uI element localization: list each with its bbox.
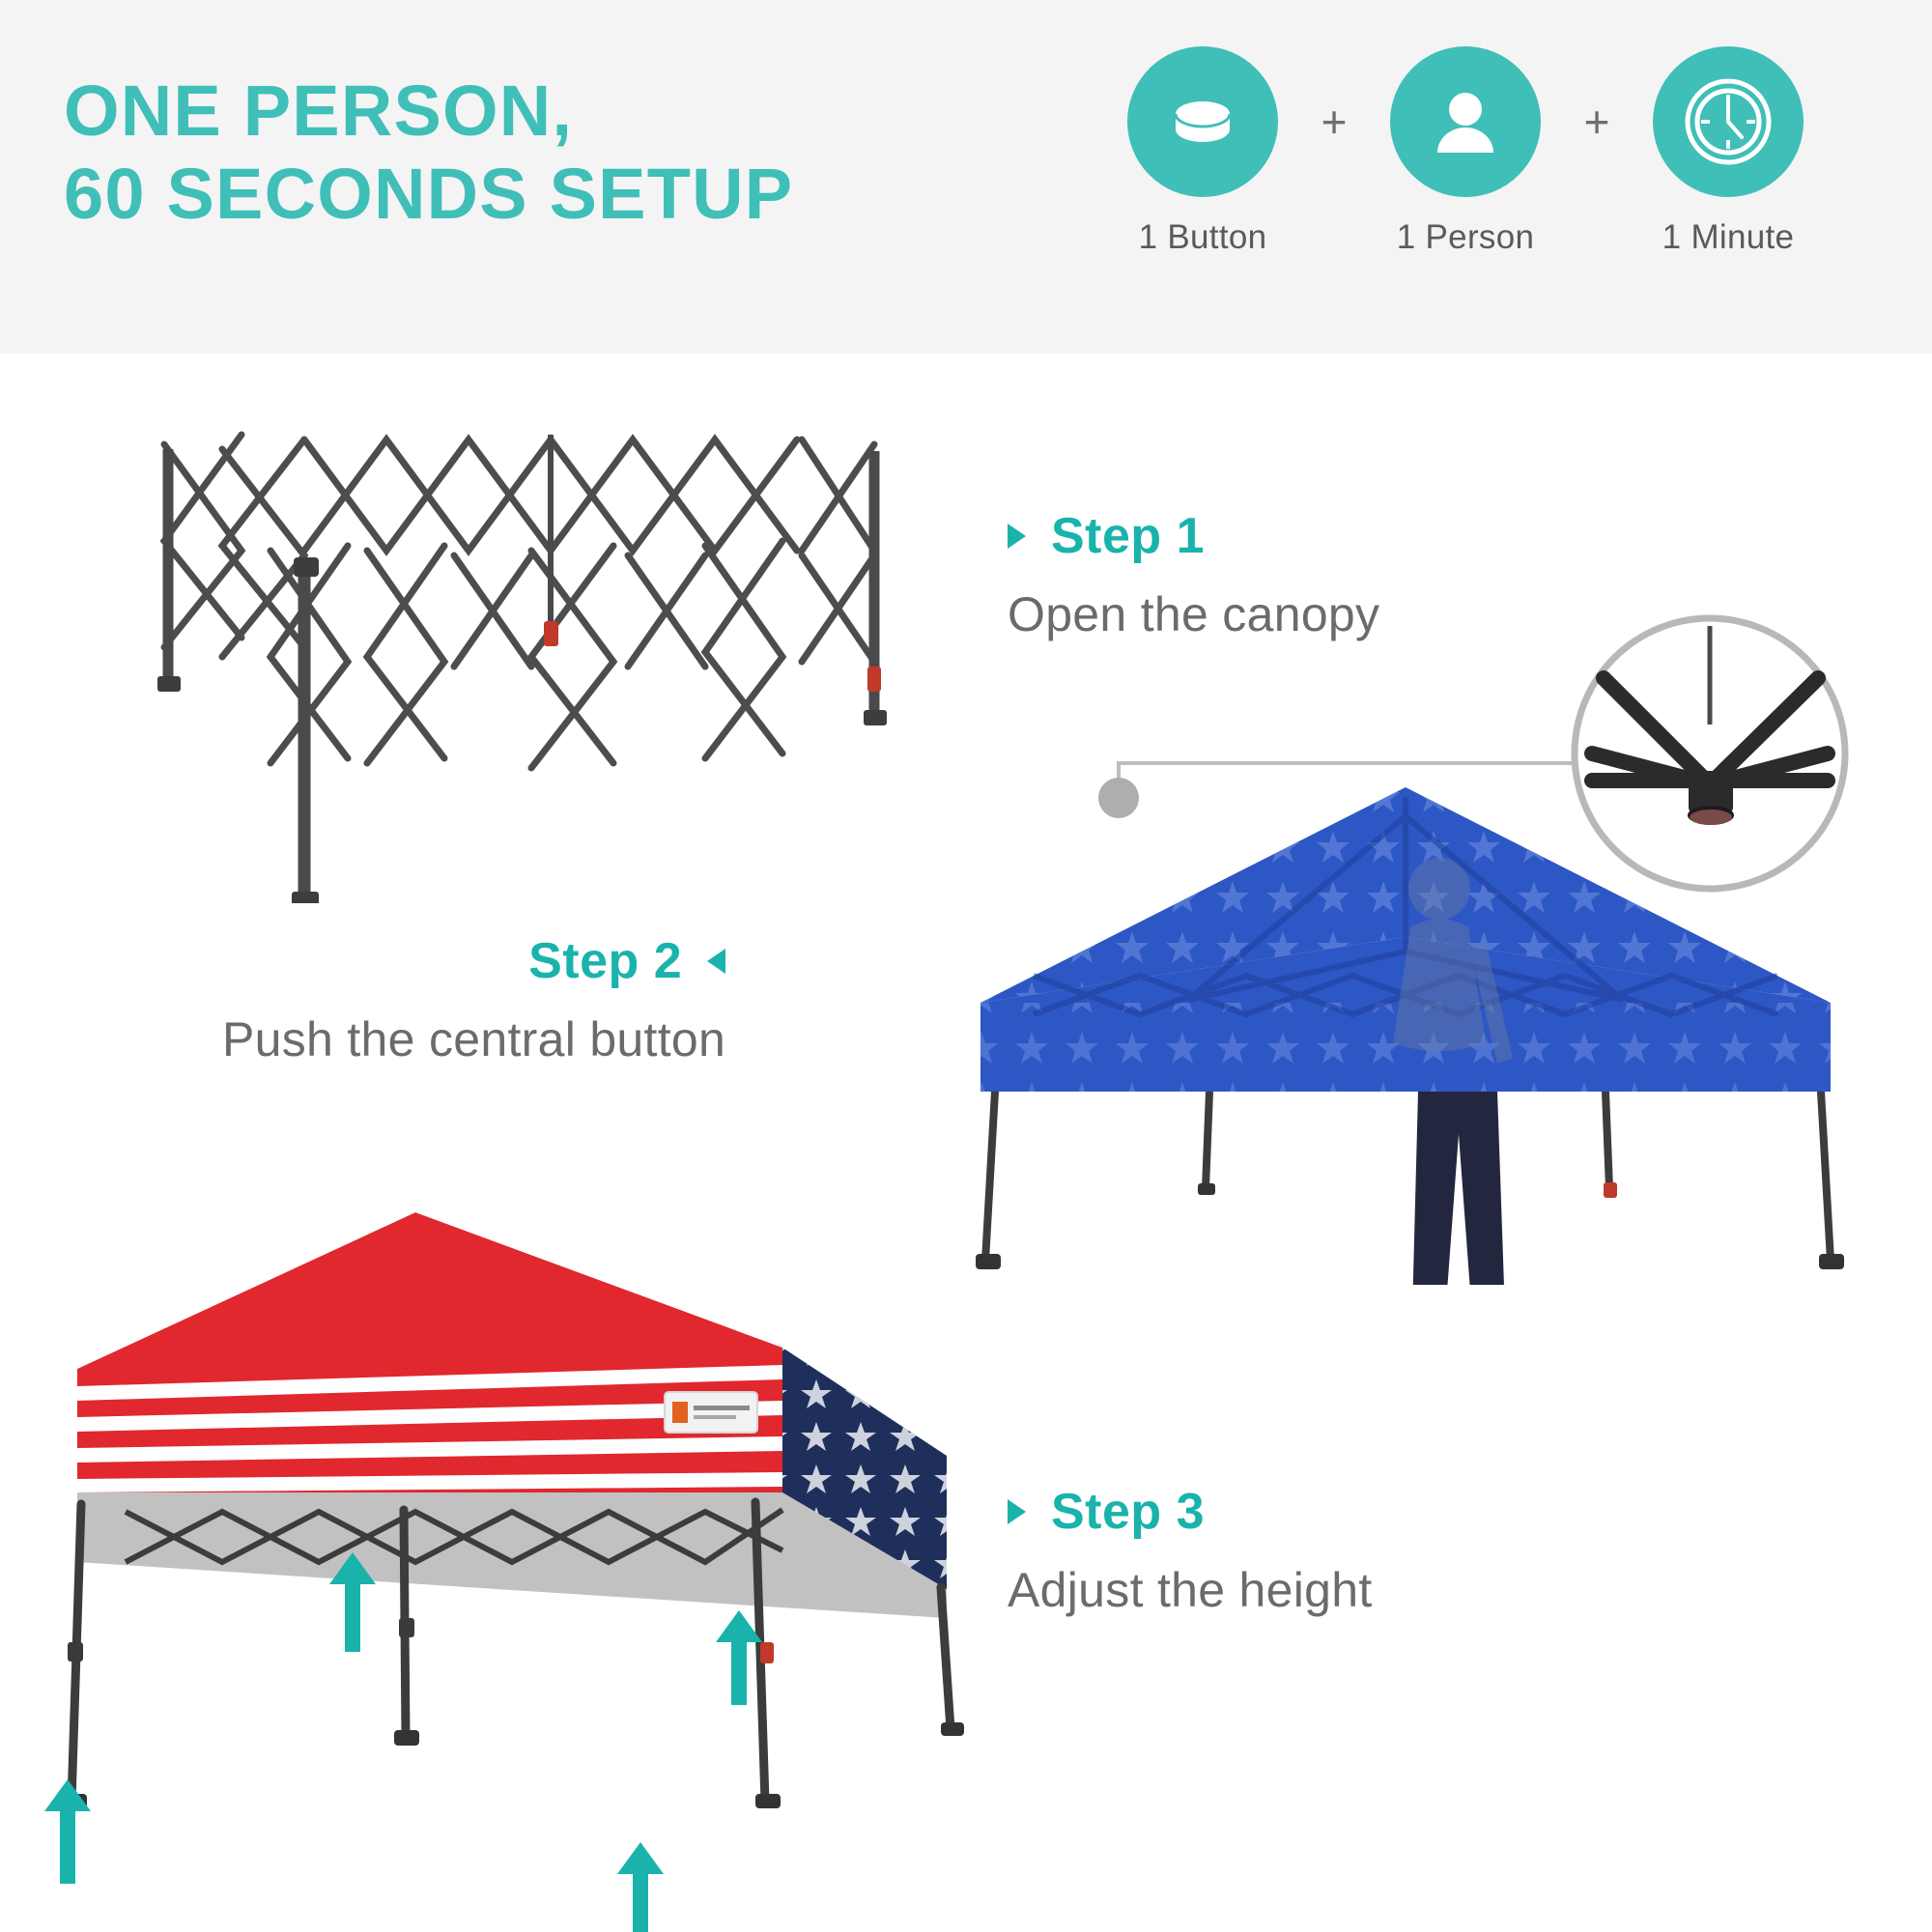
step-3-description: Adjust the height <box>1008 1562 1373 1618</box>
button-icon-badge <box>1127 46 1278 197</box>
height-adjust-arrows <box>0 1497 966 1932</box>
up-arrow-icon <box>44 1552 762 1932</box>
step-1-title: Step 1 <box>1051 507 1205 565</box>
triangle-right-icon <box>1008 1499 1026 1524</box>
plus-separator-1: + <box>1304 46 1364 197</box>
person-icon <box>1421 77 1510 166</box>
feature-1-button: 1 Button <box>1101 46 1304 257</box>
step-2-title: Step 2 <box>528 932 682 990</box>
clock-icon-badge <box>1653 46 1804 197</box>
step-2-description: Push the central button <box>222 1011 725 1067</box>
page-title: ONE PERSON, 60 SECONDS SETUP <box>64 70 793 236</box>
leg-release-tab <box>867 667 881 692</box>
brand-label <box>665 1392 757 1433</box>
collapsed-canopy-frame <box>126 382 918 903</box>
step-3-block: Step 3 Adjust the height <box>1008 1483 1373 1618</box>
feature-label: 1 Button <box>1139 218 1267 257</box>
person-lower-body <box>1406 1092 1512 1285</box>
feature-label: 1 Minute <box>1662 218 1795 257</box>
triangle-right-icon <box>1008 524 1026 549</box>
person-icon-badge <box>1390 46 1541 197</box>
callout-target-dot <box>1098 778 1139 818</box>
step-2-block: Step 2 Push the central button <box>222 932 725 1067</box>
feature-icon-row: 1 Button + 1 Person + <box>1101 46 1830 257</box>
clock-icon <box>1680 73 1776 170</box>
step-3-title: Step 3 <box>1051 1483 1205 1541</box>
triangle-left-icon <box>707 949 725 974</box>
step-2-heading: Step 2 <box>222 932 725 990</box>
header-band: ONE PERSON, 60 SECONDS SETUP 1 Button + <box>0 0 1932 354</box>
step-1-heading: Step 1 <box>1008 507 1379 565</box>
peak-hub-callout <box>1063 609 1874 927</box>
feature-label: 1 Person <box>1397 218 1535 257</box>
infographic-canvas: ONE PERSON, 60 SECONDS SETUP 1 Button + <box>0 0 1932 1932</box>
plus-separator-2: + <box>1567 46 1627 197</box>
step-3-heading: Step 3 <box>1008 1483 1373 1541</box>
button-icon <box>1158 77 1247 166</box>
central-push-button <box>1688 771 1734 825</box>
feature-1-person: 1 Person <box>1364 46 1567 257</box>
feature-1-minute: 1 Minute <box>1627 46 1830 257</box>
